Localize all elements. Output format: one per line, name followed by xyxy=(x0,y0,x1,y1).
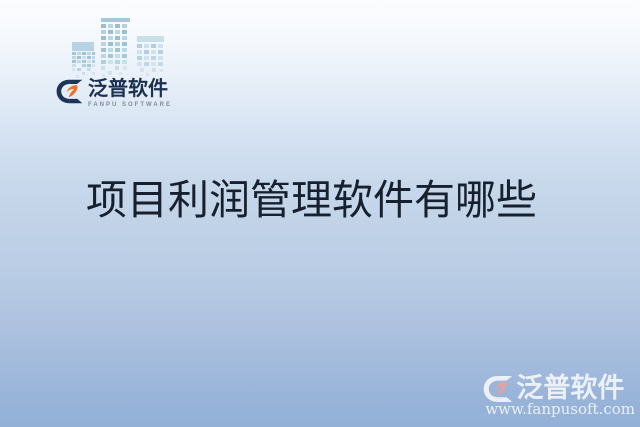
watermark: 泛普软件 www.fanpusoft.com xyxy=(483,374,635,418)
fanpu-logo-mark-icon xyxy=(56,79,83,104)
slide-canvas: 泛普软件 FANPU SOFTWARE 项目利润管理软件有哪些 泛普软件 www… xyxy=(0,0,640,427)
brand-name: 泛普软件 xyxy=(88,78,172,99)
brand-lockup: 泛普软件 FANPU SOFTWARE xyxy=(56,78,172,109)
brand-subtitle: FANPU SOFTWARE xyxy=(88,101,172,109)
page-title: 项目利润管理软件有哪些 xyxy=(86,176,537,224)
watermark-brand-row: 泛普软件 xyxy=(483,374,624,403)
fanpu-logo-mark-watermark-icon xyxy=(483,375,513,403)
watermark-brand-name: 泛普软件 xyxy=(516,374,624,403)
brand-text-block: 泛普软件 FANPU SOFTWARE xyxy=(88,78,172,109)
pixel-city-skyline-icon xyxy=(70,14,174,80)
watermark-url: www.fanpusoft.com xyxy=(485,401,635,418)
